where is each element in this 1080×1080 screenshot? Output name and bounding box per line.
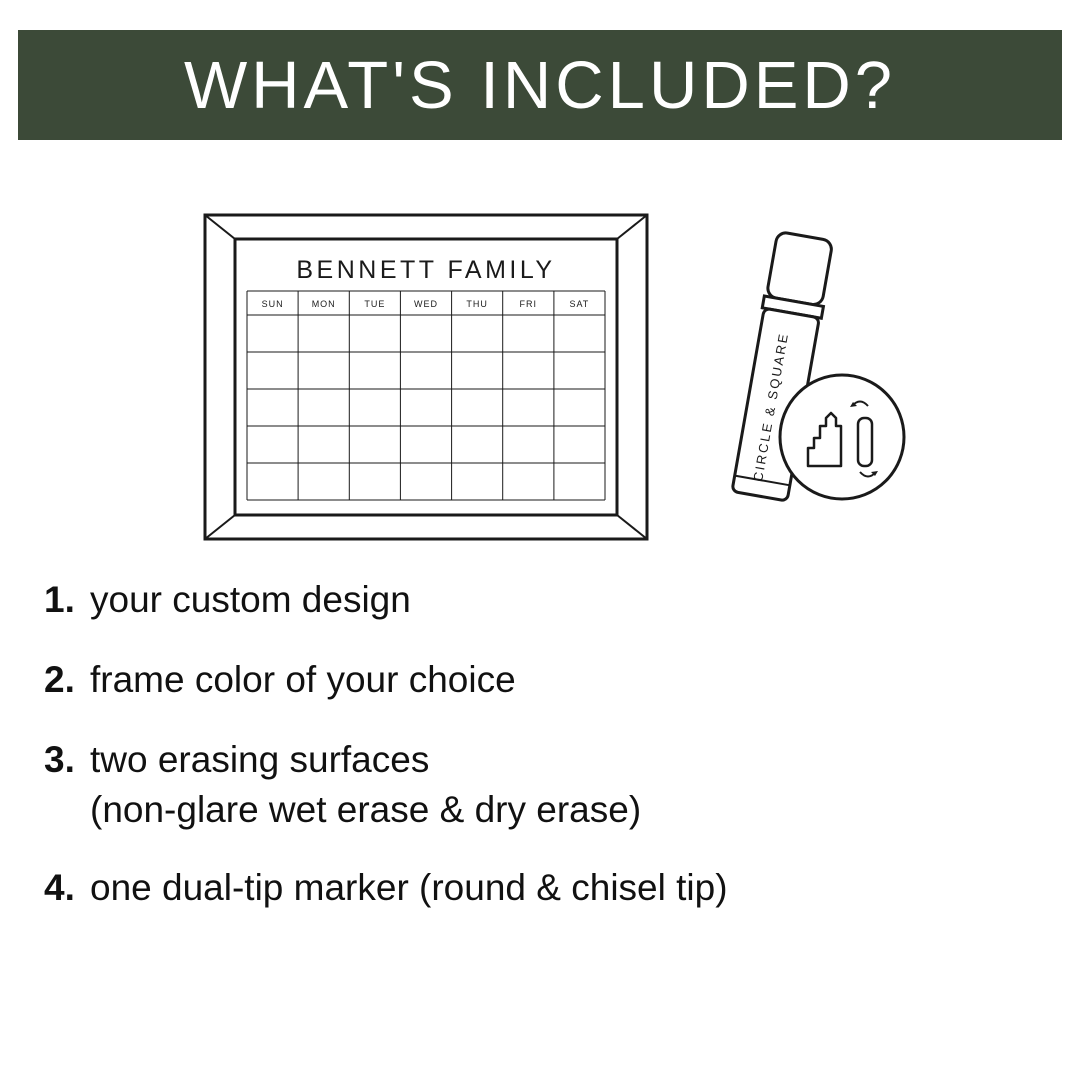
product-illustration: BENNETT FAMILY SUN MON TUE WED THU FRI S…	[0, 150, 1080, 570]
svg-text:FRI: FRI	[520, 299, 538, 309]
svg-text:WED: WED	[414, 299, 438, 309]
list-item: 3. two erasing surfaces (non-glare wet e…	[0, 735, 1080, 835]
list-item-text: one dual-tip marker (round & chisel tip)	[90, 863, 728, 913]
svg-text:TUE: TUE	[364, 299, 385, 309]
list-item-number: 4.	[44, 863, 90, 913]
list-item-number: 2.	[44, 655, 90, 705]
list-item: 2. frame color of your choice	[0, 655, 1080, 705]
page-root: WHAT'S INCLUDED? BENNETT FAMILY	[0, 0, 1080, 1080]
list-item-text: frame color of your choice	[90, 655, 516, 705]
header-banner: WHAT'S INCLUDED?	[18, 30, 1062, 140]
svg-text:BENNETT FAMILY: BENNETT FAMILY	[296, 256, 555, 284]
svg-text:MON: MON	[312, 299, 336, 309]
dual-tip-marker-icon: CIRCLE & SQUARE	[700, 220, 910, 540]
svg-text:SAT: SAT	[569, 299, 589, 309]
svg-text:SUN: SUN	[262, 299, 284, 309]
list-item-number: 3.	[44, 735, 90, 785]
svg-text:THU: THU	[466, 299, 488, 309]
framed-calendar-board-icon: BENNETT FAMILY SUN MON TUE WED THU FRI S…	[202, 212, 650, 542]
list-item-number: 1.	[44, 575, 90, 625]
list-item: 4. one dual-tip marker (round & chisel t…	[0, 863, 1080, 913]
included-items-list: 1. your custom design 2. frame color of …	[0, 575, 1080, 913]
page-title: WHAT'S INCLUDED?	[184, 52, 896, 119]
list-item-text: two erasing surfaces (non-glare wet eras…	[90, 735, 641, 835]
list-item-text: your custom design	[90, 575, 411, 625]
list-item: 1. your custom design	[0, 575, 1080, 625]
